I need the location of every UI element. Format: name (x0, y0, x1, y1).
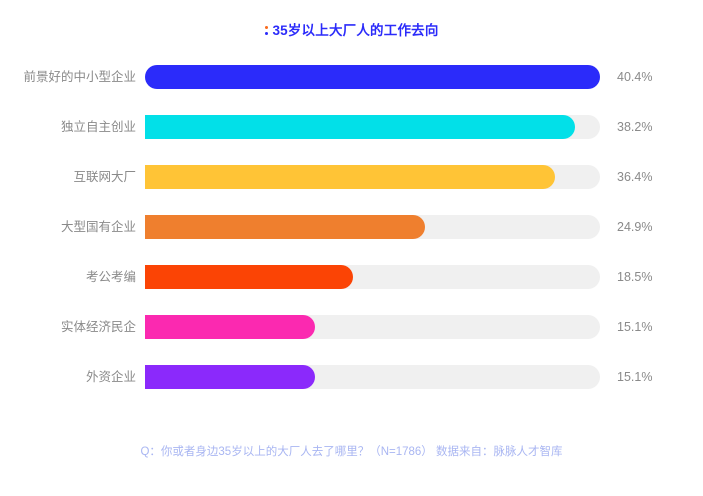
chart-title-text: 35岁以上大厂人的工作去向 (272, 19, 438, 39)
bar-fill (145, 115, 575, 139)
chart-plot-area: 前景好的中小型企业40.4%独立自主创业38.2%互联网大厂36.4%大型国有企… (0, 62, 703, 412)
bar-value-label: 40.4% (617, 62, 652, 92)
bar-fill (145, 315, 315, 339)
bar-track (145, 165, 600, 189)
bar-value-label: 15.1% (617, 312, 652, 342)
bar-category-label: 前景好的中小型企业 (0, 62, 136, 92)
bar-value-label: 38.2% (617, 112, 652, 142)
bar-track (145, 315, 600, 339)
colon-dots-icon (264, 24, 271, 37)
bar-fill (145, 365, 315, 389)
bar-fill (145, 65, 600, 89)
bar-track (145, 365, 600, 389)
bar-track (145, 215, 600, 239)
bar-fill (145, 265, 353, 289)
page-title: 35岁以上大厂人的工作去向 (0, 19, 703, 39)
bar-category-label: 独立自主创业 (0, 112, 136, 142)
bar-row: 实体经济民企15.1% (0, 312, 703, 342)
bar-row: 前景好的中小型企业40.4% (0, 62, 703, 92)
bar-value-label: 36.4% (617, 162, 652, 192)
chart-footnote: Q：你或者身边35岁以上的大厂人去了哪里？（N=1786） 数据来自：脉脉人才智… (0, 443, 703, 459)
bar-fill (145, 215, 425, 239)
bar-value-label: 18.5% (617, 262, 652, 292)
colon-dot-bottom-icon (265, 32, 268, 35)
bar-category-label: 实体经济民企 (0, 312, 136, 342)
colon-dot-top-icon (265, 26, 268, 29)
bar-value-label: 15.1% (617, 362, 652, 392)
bar-fill (145, 165, 555, 189)
bar-category-label: 外资企业 (0, 362, 136, 392)
bar-track (145, 115, 600, 139)
bar-category-label: 大型国有企业 (0, 212, 136, 242)
bar-row: 考公考编18.5% (0, 262, 703, 292)
bar-track (145, 65, 600, 89)
bar-value-label: 24.9% (617, 212, 652, 242)
bar-row: 外资企业15.1% (0, 362, 703, 392)
bar-row: 互联网大厂36.4% (0, 162, 703, 192)
bar-category-label: 互联网大厂 (0, 162, 136, 192)
bar-row: 大型国有企业24.9% (0, 212, 703, 242)
bar-track (145, 265, 600, 289)
bar-row: 独立自主创业38.2% (0, 112, 703, 142)
bar-category-label: 考公考编 (0, 262, 136, 292)
bar-chart-card: 35岁以上大厂人的工作去向 前景好的中小型企业40.4%独立自主创业38.2%互… (0, 0, 703, 496)
